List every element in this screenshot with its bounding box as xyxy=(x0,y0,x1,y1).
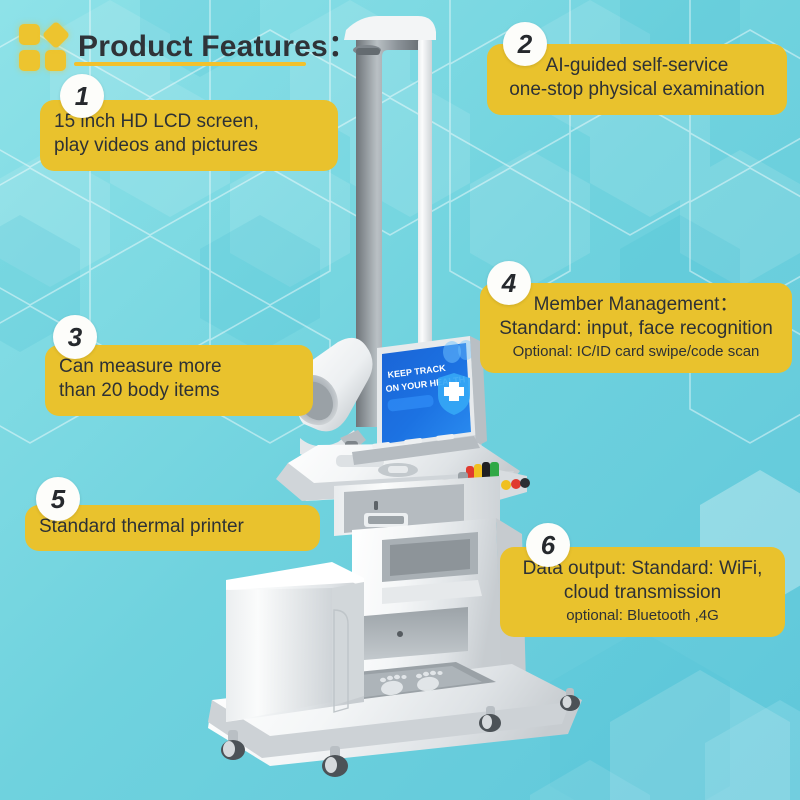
logo-square-top-left xyxy=(19,24,40,45)
callout-badge-4: 4 xyxy=(487,261,531,305)
page-title: Product Features： xyxy=(78,21,358,65)
callout-badge-2: 2 xyxy=(503,22,547,66)
callout-4-line-1: Member Management： xyxy=(494,293,778,317)
title-underline xyxy=(74,62,306,66)
logo-square-bottom-right xyxy=(45,50,66,71)
infographic-canvas: KEEP TRACK ON YOUR HEALTH xyxy=(0,0,800,800)
callout-6-line-3: optional: Bluetooth ,4G xyxy=(514,606,771,625)
callout-badge-6: 6 xyxy=(526,523,570,567)
callout-badge-3: 3 xyxy=(53,315,97,359)
callout-3-line-1: Can measure more xyxy=(59,355,299,379)
callout-3-line-2: than 20 body items xyxy=(59,379,299,403)
callout-badge-1: 1 xyxy=(60,74,104,118)
callout-6-line-2: cloud transmission xyxy=(514,581,771,605)
callout-5-line-1: Standard thermal printer xyxy=(39,515,306,539)
printer-cabinet xyxy=(226,562,364,722)
logo-diamond-top-right xyxy=(42,21,70,49)
callout-1-line-2: play videos and pictures xyxy=(54,134,324,158)
logo-square-bottom-left xyxy=(19,50,40,71)
callout-4-line-3: Optional: IC/ID card swipe/code scan xyxy=(494,342,778,361)
callout-card-4: Member Management： Standard: input, face… xyxy=(480,283,792,373)
callout-badge-5: 5 xyxy=(36,477,80,521)
four-squares-logo-icon xyxy=(18,18,74,74)
callout-2-line-2: one-stop physical examination xyxy=(501,78,773,102)
callout-4-line-2: Standard: input, face recognition xyxy=(494,317,778,341)
